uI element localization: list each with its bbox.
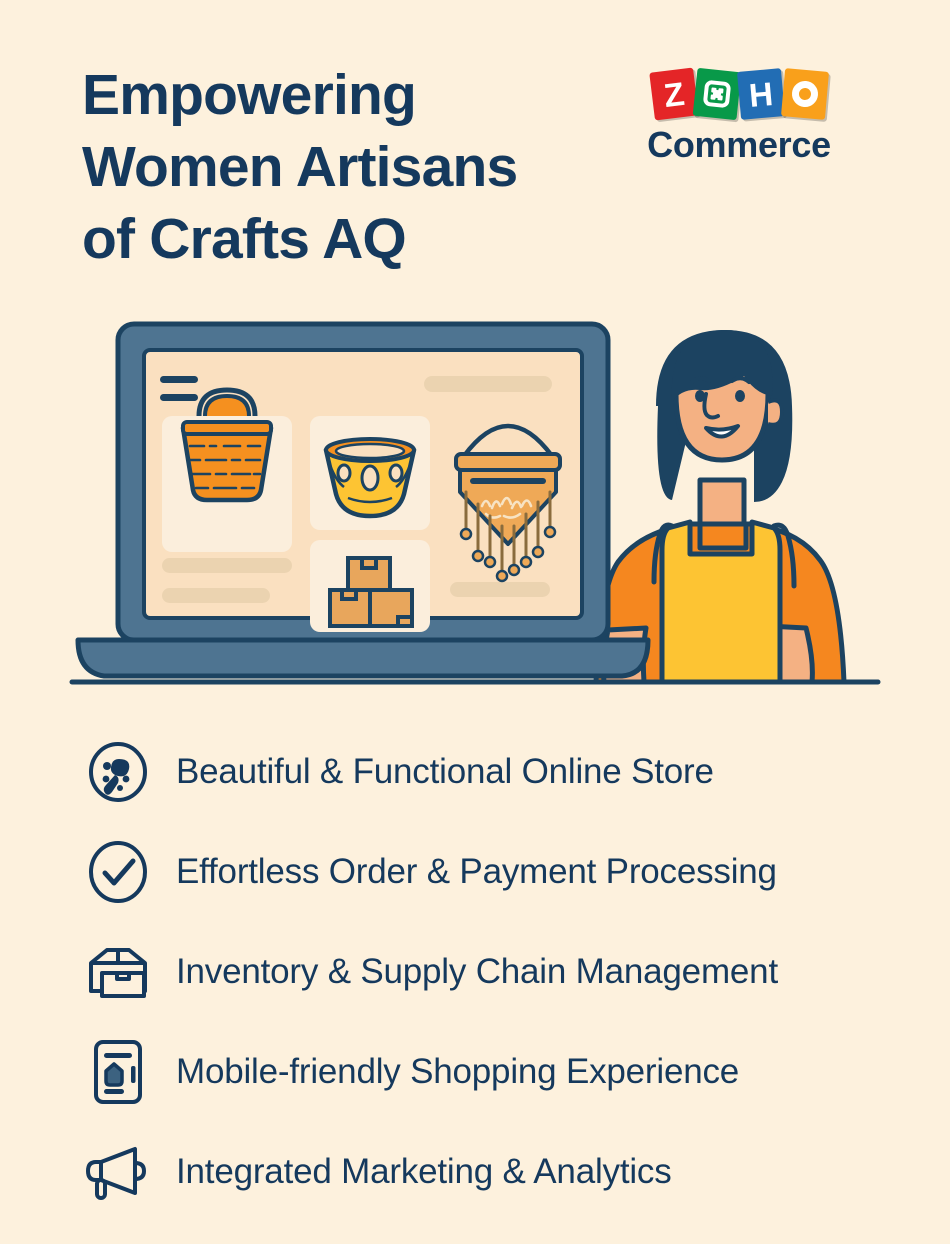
o-glyph-icon <box>790 80 818 108</box>
product-name: Commerce <box>614 124 864 166</box>
megaphone-icon <box>82 1136 154 1208</box>
feature-item-marketing[interactable]: Integrated Marketing & Analytics <box>82 1122 950 1222</box>
page-title: Empowering Women Artisans of Crafts AQ <box>82 60 622 275</box>
feature-item-inventory[interactable]: Inventory & Supply Chain Management <box>82 922 950 1022</box>
feature-item-online-store[interactable]: Beautiful & Functional Online Store <box>82 722 950 822</box>
decorated-ceramic-bowl <box>326 439 414 516</box>
feature-label: Mobile-friendly Shopping Experience <box>176 1052 739 1092</box>
mobile-shopping-icon <box>82 1036 154 1108</box>
boxes-icon <box>82 936 154 1008</box>
logo-block-at <box>692 68 741 120</box>
logo-block-h: H <box>736 68 784 120</box>
hero-illustration <box>0 310 950 700</box>
feature-item-order-payment[interactable]: Effortless Order & Payment Processing <box>82 822 950 922</box>
logo-block-z: Z <box>649 67 699 120</box>
headline-line-2: Women Artisans <box>82 132 622 204</box>
palette-icon <box>82 736 154 808</box>
logo-block-o <box>780 68 828 120</box>
laptop-mockup <box>78 324 648 676</box>
headline-line-3: of Crafts AQ <box>82 204 622 276</box>
zoho-logo: Z H <box>614 52 864 118</box>
feature-label: Integrated Marketing & Analytics <box>176 1152 672 1192</box>
infographic-page: Empowering Women Artisans of Crafts AQ Z… <box>0 0 950 1244</box>
headline-line-1: Empowering <box>82 60 622 132</box>
check-circle-icon <box>82 836 154 908</box>
brand-lockup: Z H Commerce <box>614 52 864 166</box>
at-glyph-icon <box>702 80 731 109</box>
feature-label: Beautiful & Functional Online Store <box>176 752 714 792</box>
woman-artisan <box>596 330 844 682</box>
feature-list: Beautiful & Functional Online Store Effo… <box>82 722 950 1222</box>
feature-label: Effortless Order & Payment Processing <box>176 852 777 892</box>
feature-label: Inventory & Supply Chain Management <box>176 952 778 992</box>
feature-item-mobile[interactable]: Mobile-friendly Shopping Experience <box>82 1022 950 1122</box>
